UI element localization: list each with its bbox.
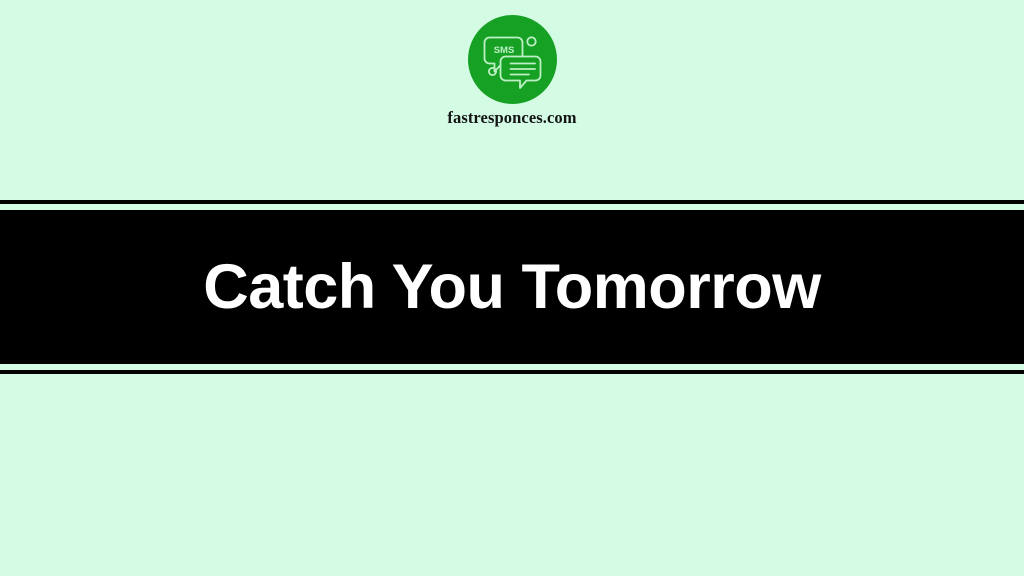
- brand-block: SMS fastresponces.com: [0, 15, 1024, 128]
- page-title: Catch You Tomorrow: [203, 256, 821, 319]
- sms-chat-bubbles-icon: SMS: [479, 29, 545, 91]
- title-banner: Catch You Tomorrow: [0, 210, 1024, 364]
- brand-name: fastresponces.com: [447, 108, 576, 128]
- sms-bubble-label: SMS: [494, 45, 515, 56]
- banner-rule-bottom: [0, 370, 1024, 374]
- banner-rule-top: [0, 200, 1024, 204]
- poster-canvas: SMS fastresponces.com Catch You Tomorrow: [0, 0, 1024, 576]
- logo-badge: SMS: [468, 15, 557, 104]
